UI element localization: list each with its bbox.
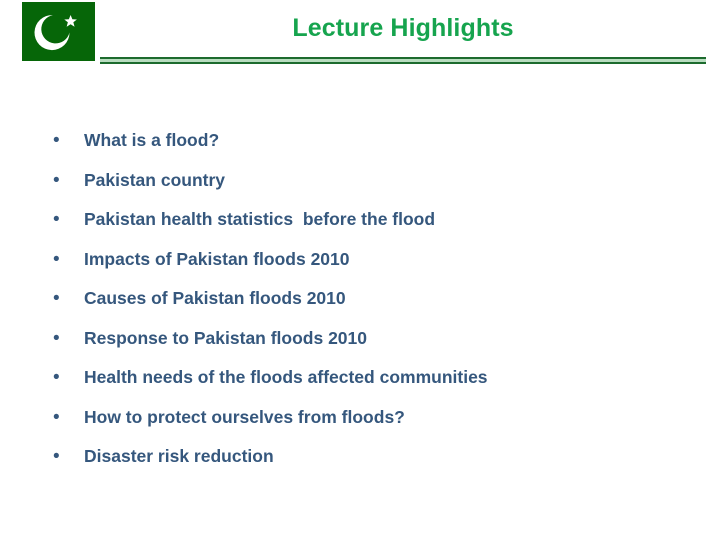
lecture-highlights-list: • What is a flood? • Pakistan country • … bbox=[48, 129, 688, 485]
list-item-label: Causes of Pakistan floods 2010 bbox=[84, 287, 688, 310]
list-item: • Health needs of the floods affected co… bbox=[48, 366, 688, 406]
list-item-label: Impacts of Pakistan floods 2010 bbox=[84, 248, 688, 271]
list-item: • Response to Pakistan floods 2010 bbox=[48, 327, 688, 367]
presentation-slide: Lecture Highlights • What is a flood? • … bbox=[0, 0, 720, 540]
bullet-dot-icon: • bbox=[48, 129, 84, 152]
slide-header: Lecture Highlights bbox=[0, 0, 720, 76]
divider-line-bottom bbox=[100, 62, 706, 64]
bullet-dot-icon: • bbox=[48, 287, 84, 310]
list-item-label: How to protect ourselves from floods? bbox=[84, 406, 688, 429]
page-title: Lecture Highlights bbox=[100, 12, 706, 44]
list-item: • Causes of Pakistan floods 2010 bbox=[48, 287, 688, 327]
bullet-dot-icon: • bbox=[48, 248, 84, 271]
bullet-dot-icon: • bbox=[48, 208, 84, 231]
list-item-label: Pakistan country bbox=[84, 169, 688, 192]
list-item: • Impacts of Pakistan floods 2010 bbox=[48, 248, 688, 288]
list-item: • How to protect ourselves from floods? bbox=[48, 406, 688, 446]
list-item-label: Response to Pakistan floods 2010 bbox=[84, 327, 688, 350]
list-item-label: Health needs of the floods affected comm… bbox=[84, 366, 688, 389]
bullet-dot-icon: • bbox=[48, 445, 84, 468]
list-item: • Disaster risk reduction bbox=[48, 445, 688, 485]
list-item-label: Disaster risk reduction bbox=[84, 445, 688, 468]
list-item-label: Pakistan health statistics before the fl… bbox=[84, 208, 688, 231]
list-item: • Pakistan health statistics before the … bbox=[48, 208, 688, 248]
list-item: • What is a flood? bbox=[48, 129, 688, 169]
title-divider bbox=[100, 57, 706, 64]
list-item: • Pakistan country bbox=[48, 169, 688, 209]
pakistan-flag-icon bbox=[22, 2, 95, 61]
bullet-dot-icon: • bbox=[48, 327, 84, 350]
bullet-dot-icon: • bbox=[48, 366, 84, 389]
list-item-label: What is a flood? bbox=[84, 129, 688, 152]
bullet-dot-icon: • bbox=[48, 406, 84, 429]
bullet-dot-icon: • bbox=[48, 169, 84, 192]
